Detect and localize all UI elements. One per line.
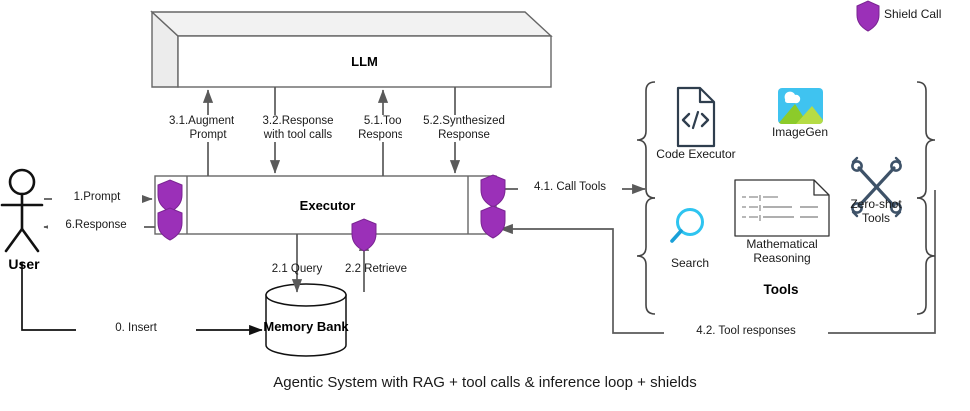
tools-brace-left — [637, 82, 655, 198]
shield-memory — [352, 219, 376, 251]
llm-box — [152, 12, 551, 87]
memory-bank-label: Memory Bank — [246, 319, 366, 334]
shield-input-bottom — [158, 208, 182, 240]
edge-label-query: 2.1 Query — [256, 263, 338, 277]
tools-group-label: Tools — [716, 282, 846, 297]
edge-label-tool-responses: 4.2. Tool responses — [664, 325, 828, 339]
diagram-caption: Agentic System with RAG + tool calls & i… — [0, 376, 970, 390]
tools-brace-right-lower — [917, 198, 935, 314]
edge-label-call-tools: 4.1. Call Tools — [518, 181, 622, 195]
magnifier-icon — [672, 210, 703, 242]
formula-document-icon — [735, 180, 829, 236]
user-stick-figure-icon — [2, 170, 42, 251]
tool-label-search: Search — [650, 257, 730, 271]
tools-brace-left-lower — [637, 198, 655, 314]
tool-label-zero-shot-tools: Zero-shot Tools — [836, 198, 916, 225]
code-document-icon — [678, 88, 714, 146]
edge-insert — [22, 262, 262, 330]
edge-label-prompt: 1.Prompt — [52, 191, 142, 205]
edge-label-synthesized-response: 5.2.Synthesized Response — [402, 115, 526, 142]
llm-label: LLM — [178, 54, 551, 69]
legend-shield-icon — [857, 1, 879, 31]
tool-label-code-executor: Code Executor — [646, 148, 746, 162]
tool-label-imagegen: ImageGen — [750, 126, 850, 140]
legend-label: Shield Call — [884, 8, 968, 22]
diagram-canvas: LLM Executor Memory Bank User Tools 0. I… — [0, 0, 970, 411]
tools-brace-right — [917, 82, 935, 198]
executor-label: Executor — [187, 198, 468, 213]
image-picture-icon — [778, 88, 826, 124]
edge-label-retrieve: 2.2 Retrieve — [330, 263, 422, 277]
edge-label-insert: 0. Insert — [76, 322, 196, 336]
edge-label-response: 6.Response — [48, 219, 144, 233]
tool-label-mathematical-reasoning: Mathematical Reasoning — [724, 238, 840, 265]
user-label: User — [0, 256, 48, 272]
